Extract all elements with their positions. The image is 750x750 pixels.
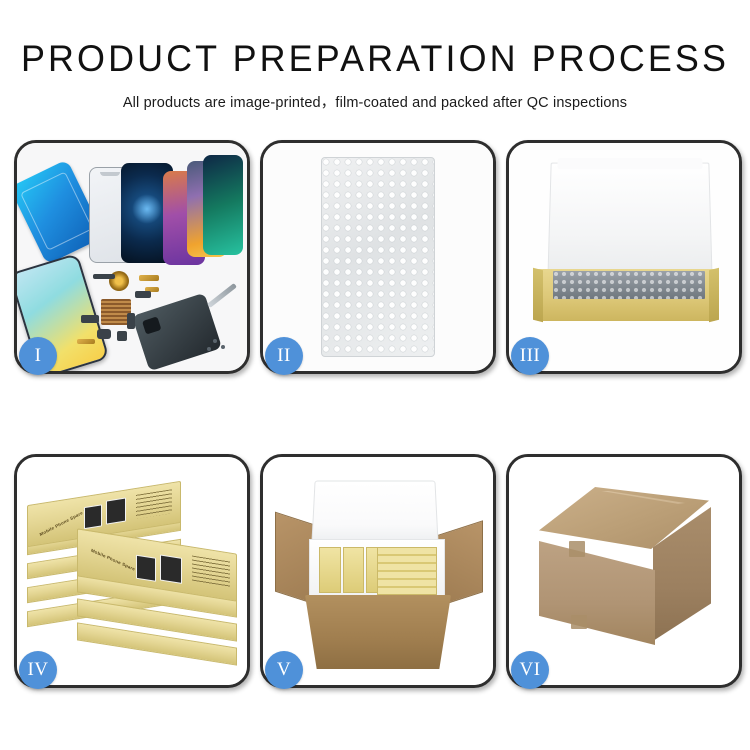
page-subtitle: All products are image-printed，film-coat… bbox=[0, 91, 750, 112]
white-foam-lid bbox=[547, 163, 713, 284]
box-print-lines-1 bbox=[136, 489, 172, 519]
yellow-box-item bbox=[343, 547, 365, 593]
box-thumb-2a bbox=[136, 555, 156, 582]
gold-flex-3 bbox=[77, 339, 95, 344]
box-thumb-1b bbox=[106, 498, 126, 525]
carton-body bbox=[305, 595, 451, 669]
process-step-panel-5[interactable]: V bbox=[260, 454, 496, 688]
screw-part-3 bbox=[207, 347, 211, 351]
process-step-panel-2[interactable]: II bbox=[260, 140, 496, 374]
step-5-image bbox=[263, 457, 493, 685]
yellow-box-item bbox=[319, 547, 341, 593]
screwdriver-icon bbox=[207, 283, 237, 308]
box-print-lines-2 bbox=[192, 556, 230, 588]
screw-part-1 bbox=[213, 339, 217, 343]
gold-flex-1 bbox=[139, 275, 159, 281]
chip-part-5 bbox=[127, 313, 135, 329]
step-badge-6: VI bbox=[511, 651, 549, 689]
process-step-panel-4[interactable]: Mobile Phone Spare Parts Mobile Phone Sp… bbox=[14, 454, 250, 688]
carton-tape-upper bbox=[569, 541, 585, 557]
page-title: PRODUCT PREPARATION PROCESS bbox=[11, 38, 739, 80]
step-badge-1: I bbox=[19, 337, 57, 375]
product-preparation-infographic: PRODUCT PREPARATION PROCESS All products… bbox=[0, 0, 750, 750]
yellow-boxes-flat bbox=[377, 547, 437, 595]
step-1-image bbox=[17, 143, 247, 371]
step-2-image bbox=[263, 143, 493, 371]
step-4-image: Mobile Phone Spare Parts Mobile Phone Sp… bbox=[17, 457, 247, 685]
header: PRODUCT PREPARATION PROCESS All products… bbox=[0, 0, 750, 112]
process-step-panel-1[interactable]: I bbox=[14, 140, 250, 374]
step-6-image bbox=[509, 457, 739, 685]
chip-part-3 bbox=[117, 331, 127, 341]
screw-part-2 bbox=[221, 345, 225, 349]
bubble-wrap-filler bbox=[553, 271, 705, 299]
process-step-grid: I II III bbox=[14, 140, 736, 682]
box-thumb-2b bbox=[160, 554, 182, 583]
carton-front-face bbox=[539, 541, 655, 645]
chip-part-2 bbox=[97, 329, 111, 339]
step-badge-5: V bbox=[265, 651, 303, 689]
carton-tape-lower bbox=[571, 615, 587, 629]
step-3-image bbox=[509, 143, 739, 371]
teal-gradient-phone bbox=[203, 155, 243, 255]
chip-part-1 bbox=[93, 274, 115, 279]
process-step-panel-6[interactable]: VI bbox=[506, 454, 742, 688]
step-badge-4: IV bbox=[19, 651, 57, 689]
foam-lid-open bbox=[311, 481, 438, 546]
step-badge-2: II bbox=[265, 337, 303, 375]
camera-module-part bbox=[135, 291, 151, 298]
box-stack: Mobile Phone Spare Parts Mobile Phone Sp… bbox=[21, 479, 243, 669]
chip-part-4 bbox=[81, 315, 99, 323]
bubble-wrap-bag bbox=[321, 157, 435, 357]
process-step-panel-3[interactable]: III bbox=[506, 140, 742, 374]
box-thumb-1a bbox=[84, 504, 102, 529]
step-badge-3: III bbox=[511, 337, 549, 375]
